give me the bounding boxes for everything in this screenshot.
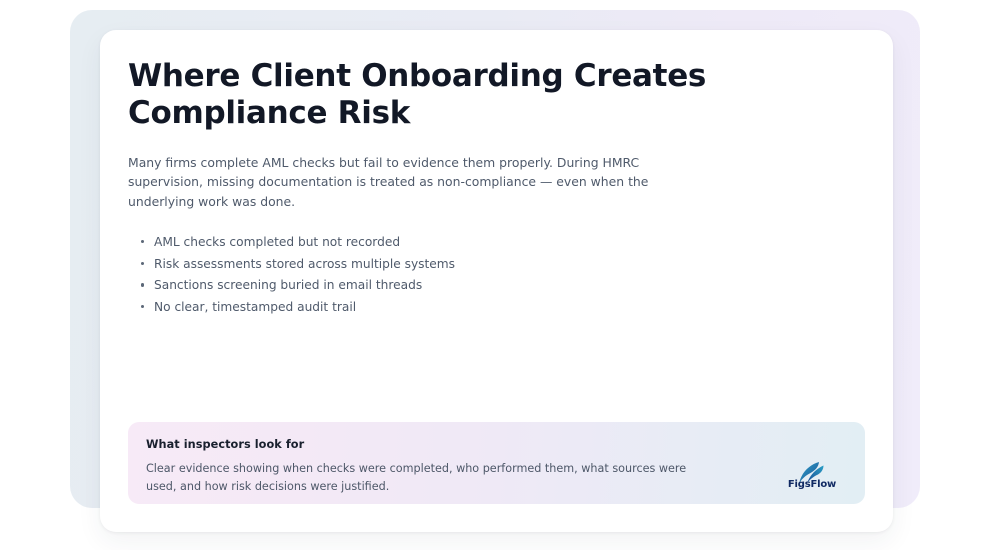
inspectors-callout: What inspectors look for Clear evidence … [128, 422, 865, 504]
list-item: No clear, timestamped audit trail [154, 298, 863, 320]
slide-card: Where Client Onboarding Creates Complian… [100, 30, 893, 532]
list-item: Risk assessments stored across multiple … [154, 255, 863, 277]
callout-title: What inspectors look for [146, 438, 845, 451]
callout-body: Clear evidence showing when checks were … [146, 460, 706, 496]
intro-paragraph: Many firms complete AML checks but fail … [128, 153, 698, 211]
list-item: AML checks completed but not recorded [154, 233, 863, 255]
risk-bullet-list: AML checks completed but not recorded Ri… [128, 233, 863, 320]
page-title: Where Client Onboarding Creates Complian… [128, 58, 863, 131]
logo-wordmark: FigsFlow [788, 480, 836, 490]
figsflow-logo: FigsFlow [783, 454, 841, 490]
slide-stage: Where Client Onboarding Creates Complian… [0, 0, 1000, 550]
list-item: Sanctions screening buried in email thre… [154, 276, 863, 298]
